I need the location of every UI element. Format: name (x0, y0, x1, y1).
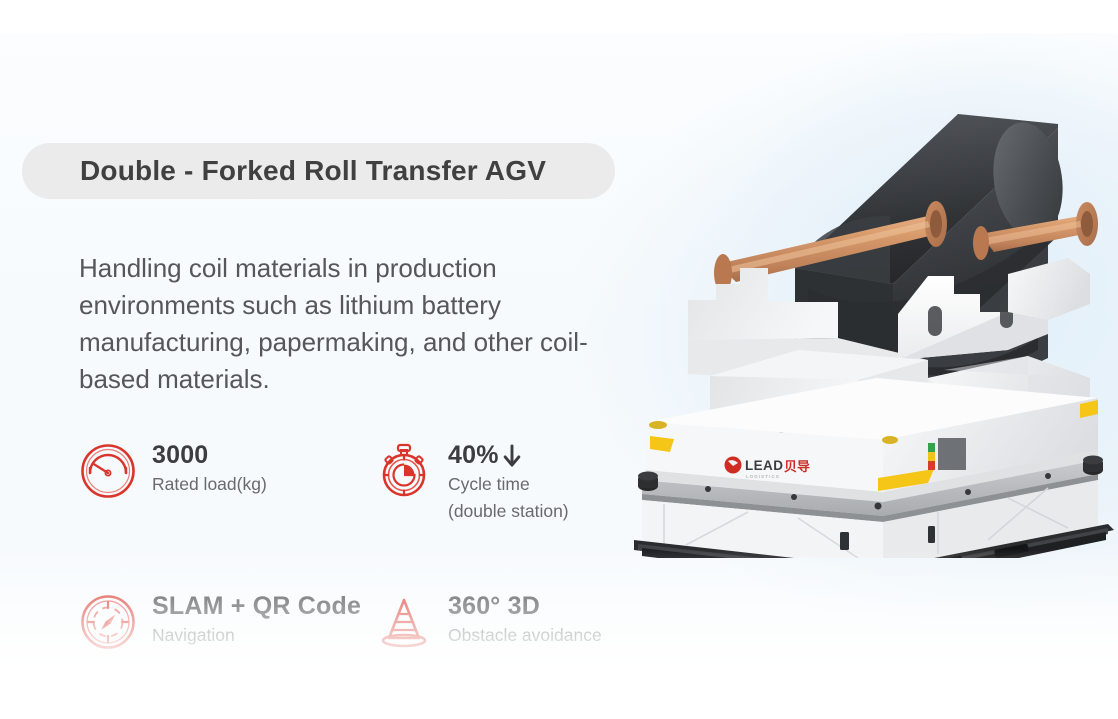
product-description: Handling coil materials in production en… (79, 250, 649, 398)
control-panel (938, 438, 966, 470)
arrow-down-icon (502, 443, 522, 469)
spec-text: 40% Cycle time (double station) (448, 440, 569, 523)
spec-label-line2: (double station) (448, 500, 569, 523)
status-light-green (928, 443, 935, 452)
spec-item-rated-load: 3000 Rated load(kg) (79, 440, 375, 523)
spec-label-line1: Cycle time (448, 473, 569, 496)
title-badge: Double - Forked Roll Transfer AGV (22, 143, 615, 199)
status-light-red (928, 461, 935, 470)
svg-text:LEAD: LEAD (745, 458, 783, 473)
spec-value: 40% (448, 442, 569, 469)
bottom-fade (0, 549, 1118, 719)
stopwatch-icon (375, 442, 433, 500)
spec-row-1: 3000 Rated load(kg) (79, 440, 699, 523)
svg-text:LOGISTICS: LOGISTICS (746, 474, 780, 479)
spec-value-text: 40% (448, 442, 499, 469)
gauge-icon (79, 442, 137, 500)
spec-value: 3000 (152, 442, 267, 469)
status-light-yellow (928, 452, 935, 461)
product-image-double-forked-roll-transfer-agv: LEAD 贝导 LOGISTICS (628, 88, 1118, 558)
promo-slide: LEAD 贝导 LOGISTICS (0, 0, 1118, 719)
svg-text:贝导: 贝导 (784, 460, 810, 475)
spec-text: 3000 Rated load(kg) (152, 440, 267, 496)
spec-item-cycle-time: 40% Cycle time (double station) (375, 440, 675, 523)
page-title: Double - Forked Roll Transfer AGV (80, 155, 546, 187)
spec-label: Rated load(kg) (152, 473, 267, 496)
